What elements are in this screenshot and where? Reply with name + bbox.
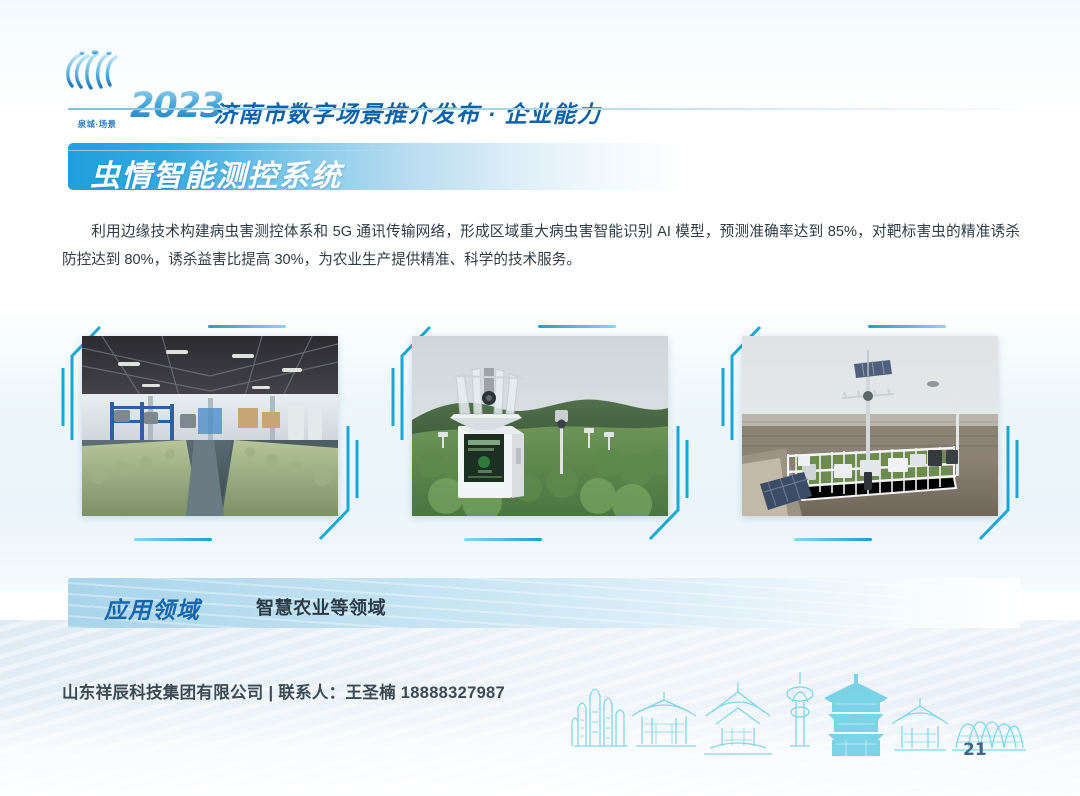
- gallery-card: [60, 322, 360, 544]
- band-wave-texture: [68, 578, 1020, 628]
- page-number: 21: [963, 740, 987, 760]
- corner-bracket-bottom-right-icon: [580, 424, 690, 544]
- accent-dash-bottom: [134, 538, 212, 541]
- company-contact-line: 山东祥辰科技集团有限公司 | 联系人：王圣楠 18888327987: [62, 679, 505, 703]
- accent-dash-bottom: [464, 538, 542, 541]
- application-area-label: 应用领域: [104, 591, 200, 625]
- photo-gallery: [60, 322, 1020, 544]
- corner-bracket-bottom-right-icon: [910, 424, 1020, 544]
- accent-dash-top: [868, 325, 946, 328]
- gallery-card: [720, 322, 1020, 544]
- page-title: 虫情智能测控系统: [90, 151, 342, 195]
- city-skyline-icon: [556, 668, 1026, 763]
- header-divider: [68, 108, 1048, 110]
- logo-subtitle: 泉城·场景: [60, 118, 134, 130]
- spring-wave-logo-icon: [62, 46, 130, 96]
- gallery-card: [390, 322, 690, 544]
- page-header: 泉城·场景 2023 济南市数字场景推介发布 · 企业能力: [0, 40, 1080, 102]
- accent-dash-bottom: [794, 538, 872, 541]
- header-year: 2023: [130, 86, 223, 126]
- corner-bracket-bottom-right-icon: [250, 424, 360, 544]
- application-area-band: [68, 578, 1020, 628]
- application-area-value: 智慧农业等领域: [256, 594, 386, 620]
- header-title: 济南市数字场景推介发布 · 企业能力: [214, 95, 601, 129]
- accent-dash-top: [538, 325, 616, 328]
- accent-dash-top: [208, 325, 286, 328]
- slide-page: 泉城·场景 2023 济南市数字场景推介发布 · 企业能力 虫情智能测控系统 利…: [0, 0, 1080, 796]
- description-paragraph: 利用边缘技术构建病虫害测控体系和 5G 通讯传输网络，形成区域重大病虫害智能识别…: [62, 218, 1020, 274]
